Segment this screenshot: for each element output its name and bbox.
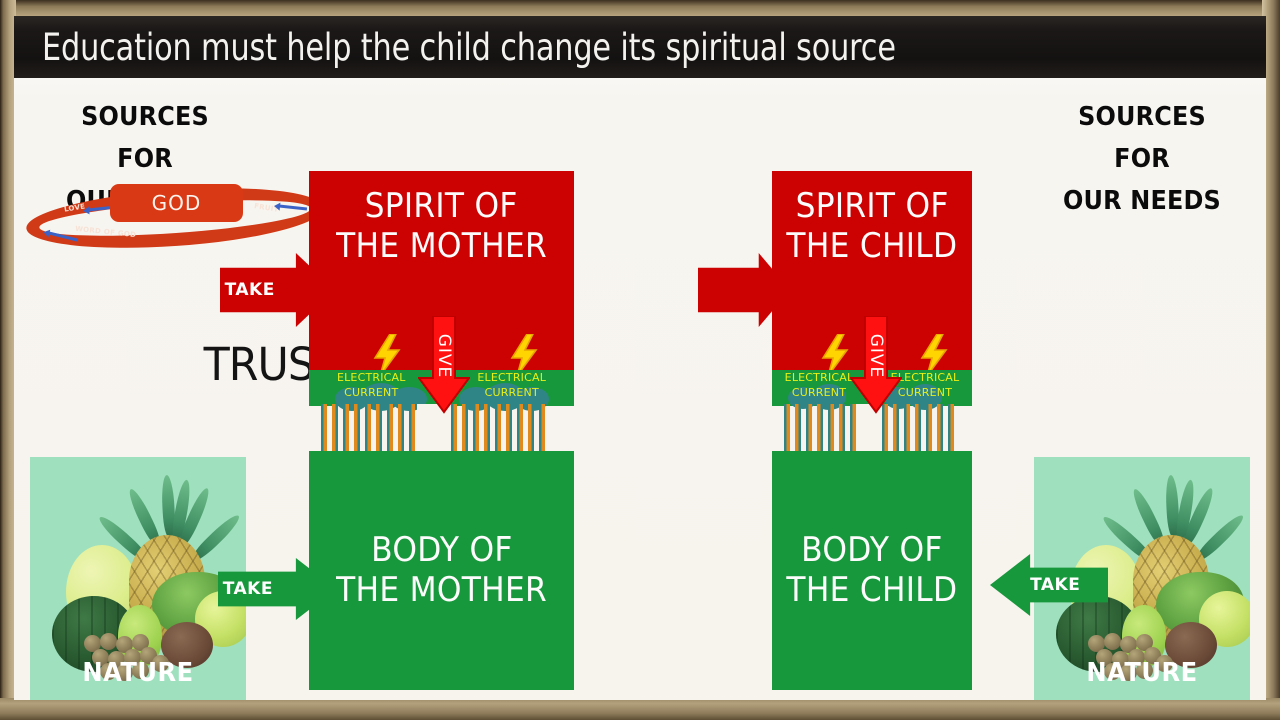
body-child-line1: BODY OF: [801, 531, 943, 571]
body-mother-line1: BODY OF: [371, 531, 513, 571]
trunk-icon: [473, 404, 479, 452]
sources-heading-right-line1: SOURCES FOR: [1052, 96, 1232, 180]
trunk-icon: [343, 404, 349, 452]
take-arrow-body-child: TAKE: [990, 554, 1108, 616]
slide-title: Education must help the child change its…: [42, 26, 896, 69]
sources-heading-right: SOURCES FOR OUR NEEDS: [1052, 96, 1232, 222]
sources-heading-right-line2: OUR NEEDS: [1052, 180, 1232, 222]
trunk-icon: [484, 404, 490, 452]
trunk-icon: [365, 404, 371, 452]
trunk-icon: [926, 404, 932, 452]
spirit-mother-line1: SPIRIT OF: [365, 187, 518, 227]
trunk-icon: [506, 404, 512, 452]
body-of-the-mother-box: BODY OF THE MOTHER: [309, 451, 574, 690]
nature-photo-left: NATURE: [30, 457, 246, 700]
trunk-icon: [904, 404, 910, 452]
trunk-icon: [528, 404, 534, 452]
god-label: GOD: [152, 191, 202, 215]
trunk-icon: [495, 404, 501, 452]
trunk-group-left: [784, 404, 856, 452]
nature-label-right: NATURE: [1042, 658, 1243, 688]
slide-frame: Education must help the child change its…: [0, 0, 1280, 720]
nature-label-left: NATURE: [38, 658, 239, 688]
trunk-icon: [517, 404, 523, 452]
give-arrow-child: GIVE: [850, 316, 902, 416]
trunk-icon: [817, 404, 823, 452]
take-arrow-body-mother: TAKE: [218, 558, 336, 620]
take-arrow-body-mother-label: TAKE: [223, 579, 273, 599]
trunk-icon: [409, 404, 415, 452]
down-arrow-icon: [418, 316, 470, 416]
down-arrow-icon: [850, 316, 902, 416]
trunk-icon: [828, 404, 834, 452]
trunk-icon: [795, 404, 801, 452]
god-box: GOD: [110, 184, 243, 222]
take-arrow-spirit-mother-label: TAKE: [225, 280, 275, 300]
body-of-the-child-box: BODY OF THE CHILD: [772, 451, 972, 690]
trunk-icon: [937, 404, 943, 452]
trunk-icon: [915, 404, 921, 452]
frame-border-top: [0, 0, 1280, 16]
sources-heading-left-line1: SOURCES FOR: [55, 96, 235, 180]
trunk-icon: [839, 404, 845, 452]
trunk-icon: [354, 404, 360, 452]
trunk-icon: [539, 404, 545, 452]
give-arrow-mother: GIVE: [418, 316, 470, 416]
trunk-icon: [784, 404, 790, 452]
trunk-icon: [387, 404, 393, 452]
slide-title-bar: Education must help the child change its…: [14, 16, 1266, 78]
trunk-icon: [332, 404, 338, 452]
body-mother-line2: THE MOTHER: [336, 571, 547, 611]
trunk-icon: [948, 404, 954, 452]
trunk-icon: [806, 404, 812, 452]
spirit-child-line1: SPIRIT OF: [795, 187, 948, 227]
take-arrow-body-child-label: TAKE: [1030, 575, 1080, 595]
trunk-group-left: [321, 404, 415, 452]
trunk-icon: [321, 404, 327, 452]
slide-canvas: Education must help the child change its…: [14, 16, 1266, 700]
trunk-icon: [376, 404, 382, 452]
body-child-line2: THE CHILD: [787, 571, 958, 611]
spirit-mother-line2: THE MOTHER: [336, 227, 547, 267]
trunk-icon: [398, 404, 404, 452]
spirit-child-line2: THE CHILD: [787, 227, 958, 267]
frame-border-bottom: [0, 698, 1280, 720]
god-source-group: LOVE FRUIT WORD OF GOD GOD: [26, 184, 326, 256]
